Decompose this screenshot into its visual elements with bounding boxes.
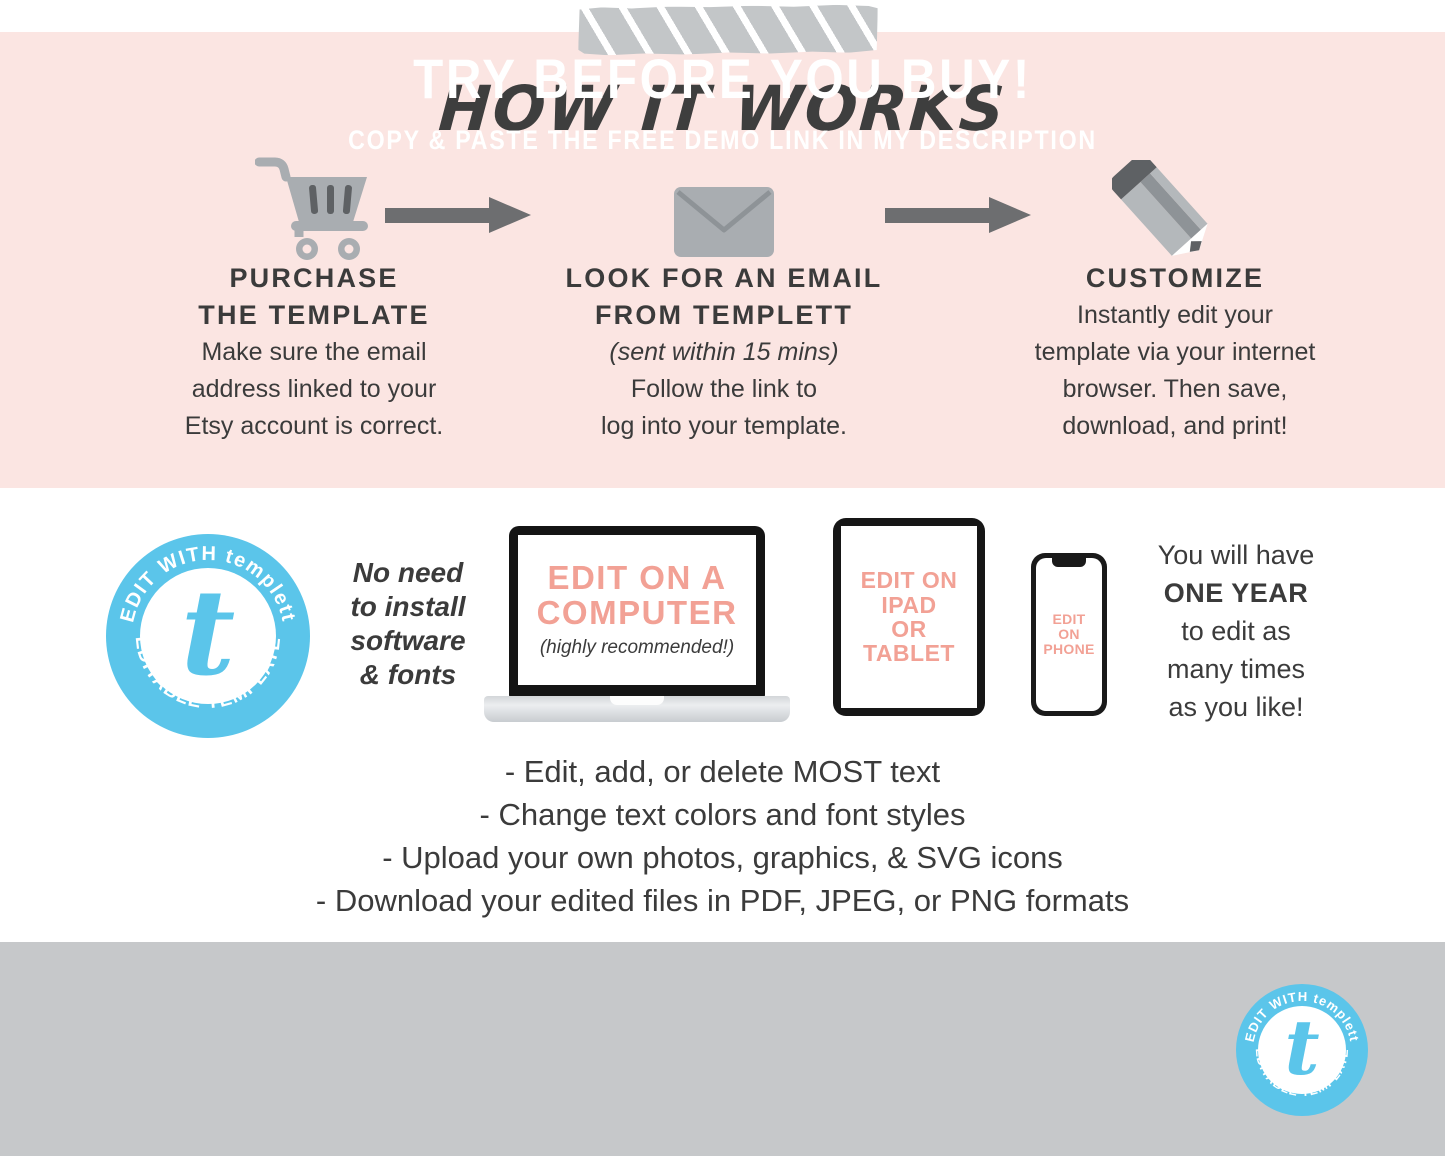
one-year-line5: as you like!: [1168, 692, 1303, 722]
step-body-line: download, and print!: [1062, 412, 1287, 440]
pencil-icon: [955, 150, 1395, 260]
tablet-line: TABLET: [863, 640, 955, 666]
feature-item: - Download your edited files in PDF, JPE…: [0, 879, 1445, 922]
no-need-line: to install: [350, 591, 465, 622]
phone-device: EDIT ON PHONE: [1031, 553, 1107, 716]
step-body: Make sure the email address linked to yo…: [84, 334, 544, 445]
feature-list: - Edit, add, or delete MOST text - Chang…: [0, 750, 1445, 922]
tablet-line: OR: [891, 616, 927, 642]
step-body-line: browser. Then save,: [1063, 375, 1288, 403]
phone-screen: EDIT ON PHONE: [1036, 558, 1102, 711]
laptop-screen: EDIT ON A COMPUTER (highly recommended!): [518, 535, 756, 685]
step-customize: CUSTOMIZE Instantly edit your template v…: [955, 150, 1395, 445]
tablet-line: IPAD: [881, 592, 936, 618]
templett-badge-icon: EDIT WITH templett EDITABLE TEMPLATE t: [106, 534, 310, 738]
step-title-line1: LOOK FOR AN EMAIL: [566, 263, 883, 293]
step-body-line: Follow the link to: [631, 375, 817, 403]
feature-item: - Edit, add, or delete MOST text: [0, 750, 1445, 793]
one-year-line1: You will have: [1158, 540, 1315, 570]
phone-screen-title: EDIT ON PHONE: [1043, 612, 1094, 656]
no-need-line: software: [350, 625, 465, 656]
step-title-line2: THE TEMPLATE: [198, 300, 429, 330]
step-title: LOOK FOR AN EMAIL FROM TEMPLETT: [494, 260, 954, 334]
step-title: PURCHASE THE TEMPLATE: [84, 260, 544, 334]
badge-inner-circle: t: [140, 568, 276, 704]
no-need-line: No need: [353, 557, 463, 588]
step-body: (sent within 15 mins) Follow the link to…: [494, 334, 954, 445]
no-need-text: No need to install software & fonts: [332, 556, 484, 692]
laptop-lid: EDIT ON A COMPUTER (highly recommended!): [509, 526, 765, 698]
templett-badge-footer-icon: EDIT WITH templett EDITABLE TEMPLATE t: [1236, 984, 1368, 1116]
badge-letter: t: [1284, 1016, 1319, 1081]
laptop-title-line1: EDIT ON A: [547, 559, 726, 596]
phone-notch: [1052, 558, 1086, 567]
laptop-screen-note: (highly recommended!): [540, 637, 734, 659]
step-italic-note: (sent within 15 mins): [609, 338, 838, 366]
one-year-highlight: ONE YEAR: [1164, 578, 1309, 608]
laptop-title-line2: COMPUTER: [537, 594, 738, 631]
no-need-line: & fonts: [360, 659, 456, 690]
step-title-line1: CUSTOMIZE: [1086, 263, 1264, 293]
tablet-line: EDIT ON: [861, 567, 958, 593]
phone-line: EDIT: [1052, 611, 1085, 627]
footer-banner: [0, 942, 1445, 1156]
step-title: CUSTOMIZE: [955, 260, 1395, 297]
tablet-screen: EDIT ON IPAD OR TABLET: [841, 526, 977, 708]
laptop-screen-title: EDIT ON A COMPUTER: [537, 561, 738, 631]
one-year-line3: to edit as: [1181, 616, 1291, 646]
laptop-device: EDIT ON A COMPUTER (highly recommended!): [484, 526, 790, 726]
shopping-cart-icon: [84, 150, 544, 260]
tablet-device: EDIT ON IPAD OR TABLET: [833, 518, 985, 716]
step-body-line: Make sure the email: [201, 338, 426, 366]
step-look-for-email: LOOK FOR AN EMAIL FROM TEMPLETT (sent wi…: [494, 150, 954, 445]
step-title-line1: PURCHASE: [229, 263, 398, 293]
step-title-line2: FROM TEMPLETT: [595, 300, 853, 330]
footer-title: TRY BEFORE YOU BUY!: [87, 46, 1359, 111]
step-body-line: Instantly edit your: [1077, 301, 1273, 329]
tablet-screen-title: EDIT ON IPAD OR TABLET: [861, 568, 958, 666]
badge-letter: t: [181, 583, 236, 683]
washi-tape-icon: [578, 4, 878, 55]
laptop-trackpad-notch: [610, 696, 664, 705]
step-body: Instantly edit your template via your in…: [955, 297, 1395, 445]
feature-item: - Upload your own photos, graphics, & SV…: [0, 836, 1445, 879]
feature-item: - Change text colors and font styles: [0, 793, 1445, 836]
step-body-line: log into your template.: [601, 412, 847, 440]
step-body-line: address linked to your: [192, 375, 437, 403]
step-body-line: template via your internet: [1035, 338, 1316, 366]
one-year-line4: many times: [1167, 654, 1305, 684]
step-purchase: PURCHASE THE TEMPLATE Make sure the emai…: [84, 150, 544, 445]
phone-line: ON: [1058, 626, 1080, 642]
phone-line: PHONE: [1043, 641, 1094, 657]
one-year-text: You will have ONE YEAR to edit as many t…: [1122, 536, 1350, 726]
badge-inner-circle: t: [1258, 1006, 1346, 1094]
footer-subtitle: COPY & PASTE THE FREE DEMO LINK IN MY DE…: [101, 125, 1344, 156]
step-body-line: Etsy account is correct.: [185, 412, 443, 440]
envelope-icon: [494, 150, 954, 260]
